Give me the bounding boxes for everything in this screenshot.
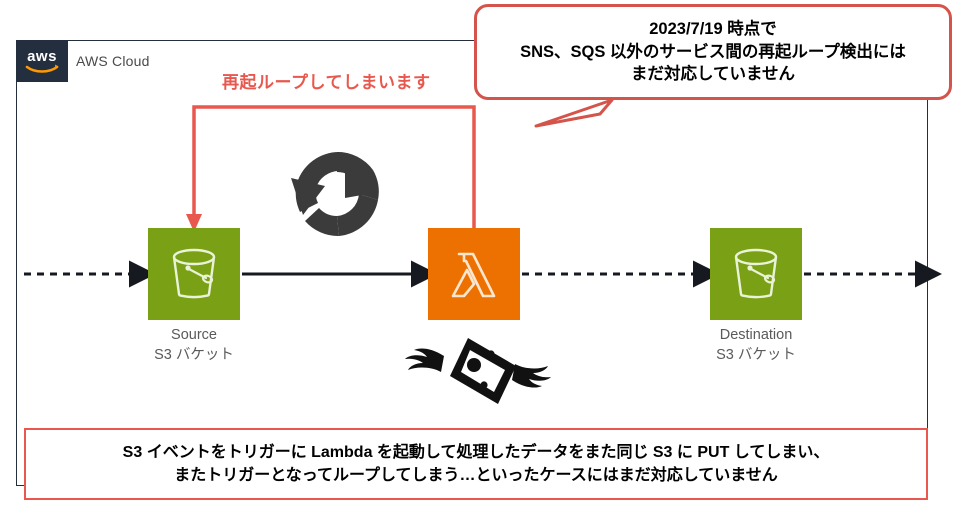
aws-cloud-label: AWS Cloud (76, 53, 150, 69)
node-destination-caption-line1: Destination (716, 326, 796, 346)
node-lambda[interactable] (428, 228, 520, 320)
s3-bucket-icon (148, 228, 240, 320)
node-source-caption: Source S3 バケット (154, 326, 234, 365)
aws-logo-icon: aws (16, 40, 68, 82)
node-source-caption-line1: Source (154, 326, 234, 346)
s3-bucket-icon (710, 228, 802, 320)
node-destination-caption: Destination S3 バケット (716, 326, 796, 365)
node-source-caption-line2: S3 バケット (154, 346, 234, 366)
callout-text: 2023/7/19 時点で SNS、SQS 以外のサービス間の再起ループ検出には… (510, 18, 916, 86)
lambda-icon (428, 228, 520, 320)
diagram-canvas: aws AWS Cloud (0, 0, 960, 513)
recursive-loop-label: 再起ループしてしまいます (222, 68, 430, 93)
bottom-note-text: S3 イベントをトリガーに Lambda を起動して処理したデータをまた同じ S… (109, 441, 844, 487)
node-destination-caption-line2: S3 バケット (716, 346, 796, 366)
callout-balloon: 2023/7/19 時点で SNS、SQS 以外のサービス間の再起ループ検出には… (474, 4, 952, 100)
svg-text:aws: aws (27, 48, 57, 65)
bottom-note-box: S3 イベントをトリガーに Lambda を起動して処理したデータをまた同じ S… (24, 428, 928, 500)
node-destination-s3-bucket[interactable]: Destination S3 バケット (710, 228, 802, 320)
node-source-s3-bucket[interactable]: Source S3 バケット (148, 228, 240, 320)
